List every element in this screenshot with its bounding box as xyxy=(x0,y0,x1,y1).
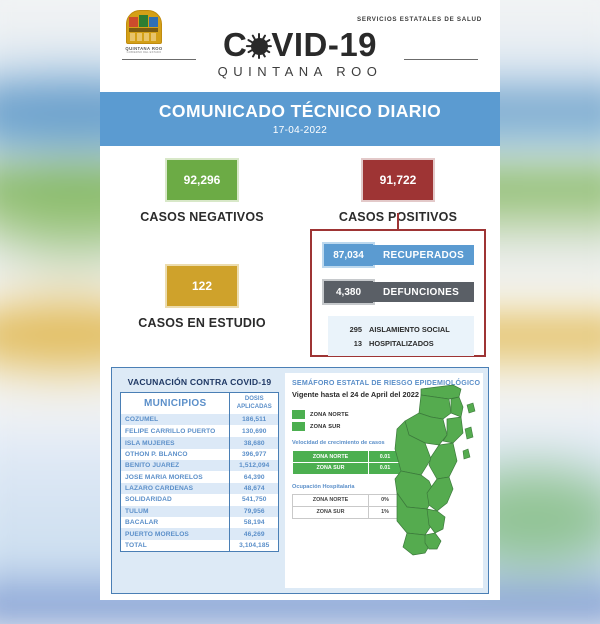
municipio-name: BENITO JUAREZ xyxy=(121,460,230,471)
table-row: COZUMEL 186,511 xyxy=(121,414,279,425)
vaccination-title: VACUNACIÓN CONTRA COVID-19 xyxy=(120,374,279,392)
stat-aislamiento-social: 295 AISLAMIENTO SOCIAL xyxy=(336,322,466,336)
municipio-name: OTHON P. BLANCO xyxy=(121,449,230,460)
vaccination-section: VACUNACIÓN CONTRA COVID-19 MUNICIPIOS DO… xyxy=(112,368,285,593)
defunciones-value: 4,380 xyxy=(322,279,375,305)
infographic-card: QUINTANA ROO GOBIERNO DEL ESTADO SERVICI… xyxy=(100,0,500,600)
ocupacion-table: ZONA NORTE 0% ZONA SUR 1% xyxy=(292,494,402,519)
recuperados-value: 87,034 xyxy=(322,242,375,268)
municipio-name: TOTAL xyxy=(121,540,230,552)
active-cases-box: 295 AISLAMIENTO SOCIAL 13 HOSPITALIZADOS xyxy=(328,316,474,356)
covid-logo-block: C VID-19 QUINTANA ROO xyxy=(100,28,500,79)
table-row: BENITO JUAREZ 1,512,094 xyxy=(121,460,279,471)
ocupacion-caption: Ocupación Hospitalaria xyxy=(292,484,388,491)
municipio-name: PUERTO MORELOS xyxy=(121,528,230,539)
municipio-name: LAZARO CARDENAS xyxy=(121,483,230,494)
municipio-dosis: 130,690 xyxy=(230,425,279,437)
aislamiento-label: AISLAMIENTO SOCIAL xyxy=(369,325,450,334)
stat-recuperados: 87,034 RECUPERADOS xyxy=(322,242,484,268)
banner-title: COMUNICADO TÉCNICO DIARIO xyxy=(100,101,500,122)
rule-left xyxy=(122,59,196,60)
legend-label: ZONA NORTE xyxy=(310,412,349,418)
municipio-dosis: 58,194 xyxy=(230,517,279,528)
coronavirus-icon xyxy=(246,33,272,59)
table-row: JOSE MARIA MORELOS 64,390 xyxy=(121,471,279,482)
health-services-label: SERVICIOS ESTATALES DE SALUD xyxy=(357,16,482,23)
ocupacion-zona: ZONA SUR xyxy=(293,506,369,518)
rule-right xyxy=(404,59,478,60)
municipio-dosis: 64,390 xyxy=(230,471,279,482)
table-row: BACALAR 58,194 xyxy=(121,517,279,528)
municipio-dosis: 48,674 xyxy=(230,483,279,494)
col-header-municipios: MUNICIPIOS xyxy=(121,393,230,415)
table-row: SOLIDARIDAD 541,750 xyxy=(121,494,279,505)
title-letter-c: C xyxy=(223,26,247,63)
stat-defunciones: 4,380 DEFUNCIONES xyxy=(322,279,484,305)
hospitalizados-value: 13 xyxy=(336,339,362,348)
title-rest: VID-19 xyxy=(271,26,377,63)
ocupacion-zona: ZONA NORTE xyxy=(293,495,369,507)
municipio-dosis: 3,104,185 xyxy=(230,540,279,552)
legend-swatch-icon xyxy=(292,422,305,431)
municipio-dosis: 1,512,094 xyxy=(230,460,279,471)
table-row: ISLA MUJERES 38,680 xyxy=(121,437,279,448)
municipio-dosis: 79,956 xyxy=(230,506,279,517)
table-row: OTHON P. BLANCO 396,977 xyxy=(121,449,279,460)
stat-casos-en-estudio: 122 CASOS EN ESTUDIO xyxy=(122,264,282,330)
table-row: LAZARO CARDENAS 48,674 xyxy=(121,483,279,494)
municipio-name: SOLIDARIDAD xyxy=(121,494,230,505)
legend-swatch-icon xyxy=(292,410,305,419)
municipio-dosis: 541,750 xyxy=(230,494,279,505)
stat-casos-negativos: 92,296 CASOS NEGATIVOS xyxy=(122,158,282,224)
positivos-breakdown-panel: 87,034 RECUPERADOS 4,380 DEFUNCIONES 295… xyxy=(310,229,486,357)
velocidad-table: ZONA NORTE 0.01 ZONA SUR 0.01 xyxy=(292,450,402,475)
casos-negativos-value: 92,296 xyxy=(165,158,239,202)
municipio-dosis: 186,511 xyxy=(230,414,279,425)
municipio-name: TULUM xyxy=(121,506,230,517)
positivos-connector-line xyxy=(397,213,399,229)
municipio-name: BACALAR xyxy=(121,517,230,528)
municipio-dosis: 38,680 xyxy=(230,437,279,448)
municipio-dosis: 396,977 xyxy=(230,449,279,460)
velocidad-caption: Velocidad de crecimiento de casos xyxy=(292,440,388,447)
table-row: FELIPE CARRILLO PUERTO 130,690 xyxy=(121,425,279,437)
table-row: ZONA NORTE 0.01 xyxy=(293,451,402,463)
table-row: ZONA NORTE 0% xyxy=(293,495,402,507)
velocidad-zona: ZONA SUR xyxy=(293,463,369,475)
page-title: C VID-19 xyxy=(223,28,377,61)
municipio-name: COZUMEL xyxy=(121,414,230,425)
defunciones-label: DEFUNCIONES xyxy=(371,282,474,302)
municipio-name: FELIPE CARRILLO PUERTO xyxy=(121,425,230,437)
casos-en-estudio-label: CASOS EN ESTUDIO xyxy=(122,316,282,330)
header: QUINTANA ROO GOBIERNO DEL ESTADO SERVICI… xyxy=(100,0,500,92)
col-header-dosis-line1: DOSIS xyxy=(245,396,264,402)
velocidad-zona: ZONA NORTE xyxy=(293,451,369,463)
table-row: ZONA SUR 0.01 xyxy=(293,463,402,475)
col-header-dosis: DOSIS APLICADAS xyxy=(230,393,279,415)
municipio-dosis: 46,269 xyxy=(230,528,279,539)
municipio-name: ISLA MUJERES xyxy=(121,437,230,448)
municipio-name: JOSE MARIA MORELOS xyxy=(121,471,230,482)
col-header-dosis-line2: APLICADAS xyxy=(237,404,272,410)
vaccination-table: MUNICIPIOS DOSIS APLICADAS COZUMEL 186,5… xyxy=(120,392,279,552)
daily-report-banner: COMUNICADO TÉCNICO DIARIO 17-04-2022 xyxy=(100,92,500,146)
page-subtitle: QUINTANA ROO xyxy=(100,64,500,79)
stat-hospitalizados: 13 HOSPITALIZADOS xyxy=(336,336,466,350)
table-header-row: MUNICIPIOS DOSIS APLICADAS xyxy=(121,393,279,415)
casos-negativos-label: CASOS NEGATIVOS xyxy=(122,210,282,224)
report-date: 17-04-2022 xyxy=(100,125,500,136)
table-row: TULUM 79,956 xyxy=(121,506,279,517)
hospitalizados-label: HOSPITALIZADOS xyxy=(369,339,434,348)
bottom-panel: VACUNACIÓN CONTRA COVID-19 MUNICIPIOS DO… xyxy=(111,367,489,594)
legend-label: ZONA SUR xyxy=(310,424,341,430)
table-row: PUERTO MORELOS 46,269 xyxy=(121,528,279,539)
casos-positivos-value: 91,722 xyxy=(361,158,435,202)
semaforo-section: SEMÁFORO ESTATAL DE RIESGO EPIDEMIOLÓGIC… xyxy=(285,373,483,588)
casos-en-estudio-value: 122 xyxy=(165,264,239,308)
aislamiento-value: 295 xyxy=(336,325,362,334)
table-row-total: TOTAL 3,104,185 xyxy=(121,540,279,552)
recuperados-label: RECUPERADOS xyxy=(371,245,474,265)
quintana-roo-map xyxy=(391,383,483,565)
table-row: ZONA SUR 1% xyxy=(293,506,402,518)
statistics-section: 92,296 CASOS NEGATIVOS 91,722 CASOS POSI… xyxy=(100,146,500,371)
